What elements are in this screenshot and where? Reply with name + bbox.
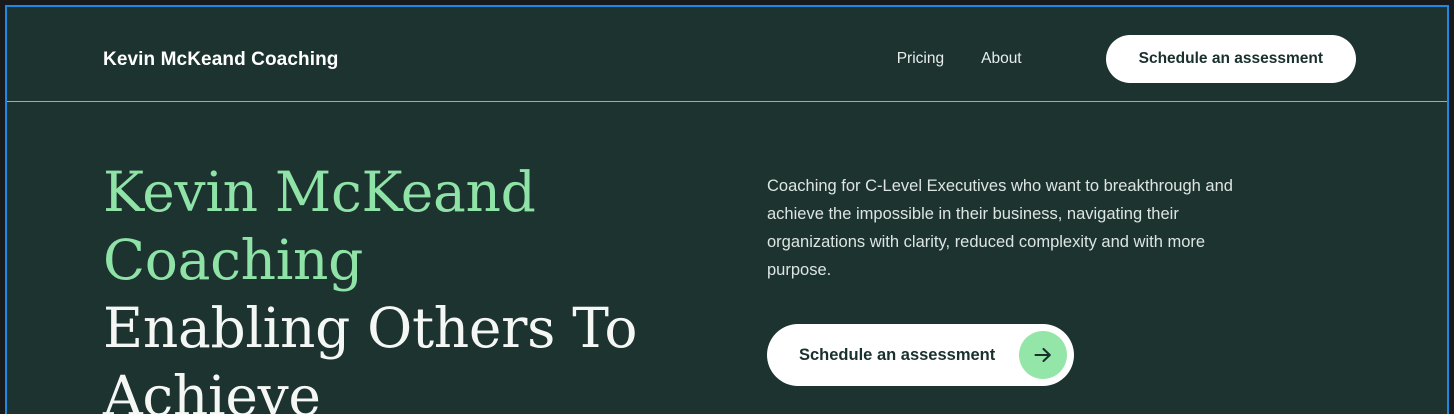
site-header: Kevin McKeand Coaching Pricing About Sch… xyxy=(7,7,1447,102)
hero-paragraph: Coaching for C-Level Executives who want… xyxy=(767,172,1272,284)
hero-heading-line-2: Enabling Others To Achieve xyxy=(103,294,767,414)
arrow-right-icon xyxy=(1019,331,1067,379)
hero-section: Kevin McKeand Coaching Enabling Others T… xyxy=(7,102,1447,414)
hero-left-column: Kevin McKeand Coaching Enabling Others T… xyxy=(7,158,767,414)
header-schedule-assessment-button[interactable]: Schedule an assessment xyxy=(1106,35,1356,83)
brand-logo[interactable]: Kevin McKeand Coaching xyxy=(103,49,339,71)
hero-right-column: Coaching for C-Level Executives who want… xyxy=(767,158,1327,414)
nav-link-about[interactable]: About xyxy=(981,35,1022,83)
nav-link-pricing[interactable]: Pricing xyxy=(897,35,944,83)
hero-cta-label: Schedule an assessment xyxy=(799,346,995,365)
hero-schedule-assessment-button[interactable]: Schedule an assessment xyxy=(767,324,1074,386)
header-nav: Pricing About Schedule an assessment xyxy=(897,35,1356,83)
hero-heading-accent-line: Kevin McKeand Coaching xyxy=(103,158,767,294)
page-root: Kevin McKeand Coaching Pricing About Sch… xyxy=(7,7,1447,412)
hero-heading: Kevin McKeand Coaching Enabling Others T… xyxy=(103,158,767,414)
browser-viewport: Kevin McKeand Coaching Pricing About Sch… xyxy=(5,5,1449,414)
